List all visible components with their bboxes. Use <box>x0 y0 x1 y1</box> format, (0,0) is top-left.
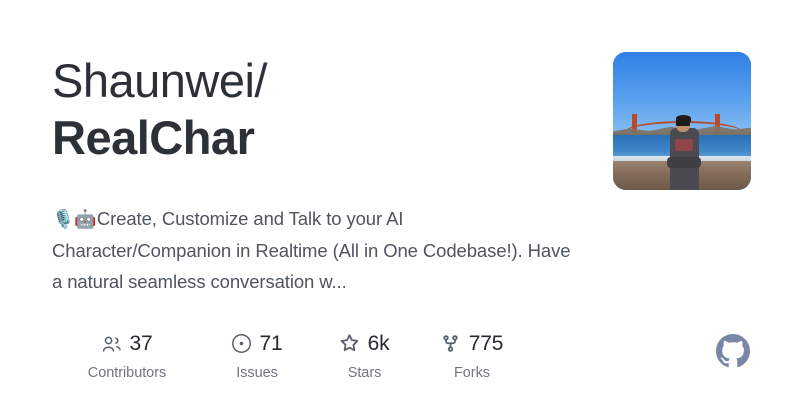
stat-issues-value: 71 <box>260 333 283 354</box>
avatar <box>613 52 751 190</box>
repository-description-text: Create, Customize and Talk to your AI Ch… <box>52 208 570 292</box>
repository-name: RealChar <box>52 109 592 166</box>
stat-contributors-top: 37 <box>102 330 153 356</box>
avatar-person-shirt-logo <box>675 139 693 151</box>
avatar-person-sunglasses <box>676 122 690 125</box>
stat-contributors-label: Contributors <box>88 365 166 381</box>
stat-forks: 775 Forks <box>417 330 527 381</box>
stat-stars-label: Stars <box>348 365 382 381</box>
repository-social-card: Shaunwei/ RealChar 🎙️🤖Create, Customize … <box>0 0 800 400</box>
github-logo-icon <box>716 334 750 368</box>
people-icon <box>102 334 121 353</box>
stat-issues-top: 71 <box>232 330 283 356</box>
stat-stars-top: 6k <box>340 330 390 356</box>
issue-opened-icon <box>232 334 251 353</box>
avatar-person-arms <box>667 157 702 168</box>
microphone-icon: 🎙️ <box>52 209 74 229</box>
stat-stars: 6k Stars <box>312 330 417 381</box>
robot-icon: 🤖 <box>74 209 96 229</box>
repository-stats: 37 Contributors 71 Issues <box>52 330 527 381</box>
stat-stars-value: 6k <box>368 333 390 354</box>
stat-forks-value: 775 <box>469 333 503 354</box>
repo-forked-icon <box>441 334 460 353</box>
avatar-person-hair <box>676 115 691 122</box>
stat-contributors: 37 Contributors <box>52 330 202 381</box>
stat-issues-label: Issues <box>236 365 278 381</box>
repository-title: Shaunwei/ RealChar <box>52 52 592 166</box>
repository-owner: Shaunwei/ <box>52 52 592 109</box>
stat-issues: 71 Issues <box>202 330 312 381</box>
repository-description: 🎙️🤖Create, Customize and Talk to your AI… <box>52 203 572 297</box>
stat-contributors-value: 37 <box>130 333 153 354</box>
star-icon <box>340 334 359 353</box>
stat-forks-top: 775 <box>441 330 503 356</box>
stat-forks-label: Forks <box>454 365 490 381</box>
